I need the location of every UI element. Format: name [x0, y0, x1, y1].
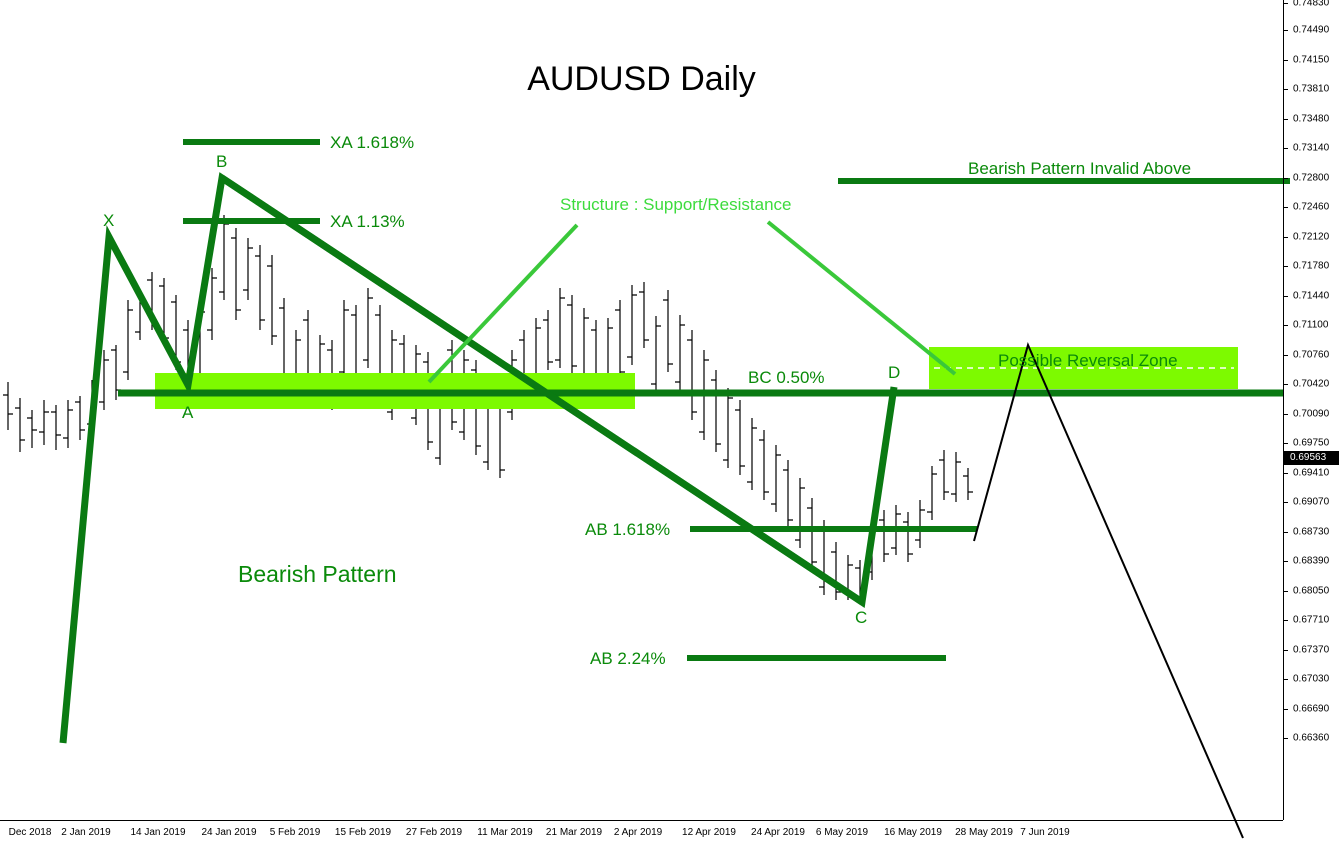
price-tick-label: 0.69410 — [1293, 468, 1329, 479]
pattern-point-label-d: D — [888, 363, 900, 383]
price-tick-mark — [1283, 207, 1288, 208]
date-axis-line — [0, 820, 1283, 821]
pattern-point-label-a: A — [182, 403, 193, 423]
date-tick-label: 21 Mar 2019 — [546, 827, 602, 838]
price-tick-label: 0.73140 — [1293, 143, 1329, 154]
price-tick-label: 0.67710 — [1293, 615, 1329, 626]
price-tick-label: 0.66690 — [1293, 704, 1329, 715]
price-tick-mark — [1283, 473, 1288, 474]
price-tick-mark — [1283, 60, 1288, 61]
date-tick-label: 12 Apr 2019 — [682, 827, 736, 838]
label-structure-support-resistance: Structure : Support/Resistance — [560, 195, 792, 215]
date-tick-label: 15 Feb 2019 — [335, 827, 391, 838]
price-tick-label: 0.74830 — [1293, 0, 1329, 9]
date-tick-label: 16 May 2019 — [884, 827, 942, 838]
price-tick-label: 0.68730 — [1293, 527, 1329, 538]
pattern-point-label-c: C — [855, 608, 867, 628]
price-tick-mark — [1283, 709, 1288, 710]
price-tick-mark — [1283, 591, 1288, 592]
price-tick-mark — [1283, 679, 1288, 680]
price-tick-mark — [1283, 119, 1288, 120]
pattern-point-label-b: B — [216, 152, 227, 172]
price-tick-label: 0.72120 — [1293, 232, 1329, 243]
label-bearish-pattern-invalid-above: Bearish Pattern Invalid Above — [968, 159, 1191, 179]
price-tick-mark — [1283, 325, 1288, 326]
price-axis-line — [1283, 0, 1284, 820]
price-tick-label: 0.68050 — [1293, 586, 1329, 597]
label-ab-224: AB 2.24% — [590, 649, 666, 669]
price-tick-label: 0.70420 — [1293, 379, 1329, 390]
date-tick-label: Dec 2018 — [9, 827, 52, 838]
current-price-badge: 0.69563 — [1284, 451, 1339, 465]
price-tick-label: 0.70090 — [1293, 409, 1329, 420]
label-bearish-pattern: Bearish Pattern — [238, 561, 397, 588]
price-tick-label: 0.71780 — [1293, 261, 1329, 272]
price-tick-label: 0.70760 — [1293, 350, 1329, 361]
price-tick-mark — [1283, 30, 1288, 31]
date-tick-label: 11 Mar 2019 — [477, 827, 532, 838]
price-tick-label: 0.71100 — [1293, 320, 1328, 331]
price-tick-mark — [1283, 561, 1288, 562]
price-tick-mark — [1283, 532, 1288, 533]
price-tick-mark — [1283, 89, 1288, 90]
label-possible-reversal-zone: Possible Reversal Zone — [998, 351, 1178, 371]
price-tick-label: 0.67370 — [1293, 645, 1329, 656]
price-tick-label: 0.72460 — [1293, 202, 1329, 213]
date-tick-label: 7 Jun 2019 — [1020, 827, 1070, 838]
price-tick-label: 0.74150 — [1293, 55, 1329, 66]
price-tick-label: 0.69070 — [1293, 497, 1329, 508]
date-tick-label: 2 Jan 2019 — [61, 827, 111, 838]
price-tick-label: 0.69750 — [1293, 438, 1329, 449]
price-tick-label: 0.73810 — [1293, 84, 1329, 95]
price-tick-mark — [1283, 3, 1288, 4]
price-tick-mark — [1283, 502, 1288, 503]
date-tick-label: 24 Jan 2019 — [201, 827, 256, 838]
price-tick-mark — [1283, 384, 1288, 385]
structure-pointer-left — [429, 225, 577, 382]
label-xa-1618: XA 1.618% — [330, 133, 414, 153]
chart-root: AUDUSD Daily XA 1.618% XA 1.13% BC 0.50%… — [0, 0, 1341, 847]
price-tick-label: 0.67030 — [1293, 674, 1329, 685]
price-tick-mark — [1283, 414, 1288, 415]
price-tick-mark — [1283, 148, 1288, 149]
pattern-point-label-x: X — [103, 211, 114, 231]
price-tick-mark — [1283, 738, 1288, 739]
price-tick-mark — [1283, 266, 1288, 267]
date-tick-label: 27 Feb 2019 — [406, 827, 462, 838]
price-tick-mark — [1283, 355, 1288, 356]
structure-pointer-right — [768, 222, 955, 374]
date-tick-label: 28 May 2019 — [955, 827, 1013, 838]
price-tick-mark — [1283, 237, 1288, 238]
price-tick-label: 0.66360 — [1293, 733, 1329, 744]
label-xa-113: XA 1.13% — [330, 212, 405, 232]
price-tick-mark — [1283, 296, 1288, 297]
price-tick-label: 0.72800 — [1293, 173, 1329, 184]
date-tick-label: 2 Apr 2019 — [614, 827, 662, 838]
price-tick-label: 0.73480 — [1293, 114, 1329, 125]
chart-title: AUDUSD Daily — [0, 60, 1283, 99]
label-ab-1618: AB 1.618% — [585, 520, 670, 540]
price-tick-mark — [1283, 620, 1288, 621]
price-tick-mark — [1283, 443, 1288, 444]
date-tick-label: 14 Jan 2019 — [130, 827, 185, 838]
date-tick-label: 6 May 2019 — [816, 827, 868, 838]
plot-area: AUDUSD Daily XA 1.618% XA 1.13% BC 0.50%… — [0, 0, 1283, 820]
date-tick-label: 24 Apr 2019 — [751, 827, 805, 838]
label-bc-050: BC 0.50% — [748, 368, 825, 388]
date-axis[interactable]: Dec 20182 Jan 201914 Jan 201924 Jan 2019… — [0, 820, 1283, 847]
price-tick-label: 0.71440 — [1293, 291, 1329, 302]
price-axis[interactable]: 0.748300.744900.741500.738100.734800.731… — [1283, 0, 1341, 820]
structure-pointers-layer — [0, 0, 1341, 847]
date-tick-label: 5 Feb 2019 — [270, 827, 321, 838]
price-tick-label: 0.68390 — [1293, 556, 1329, 567]
price-tick-mark — [1283, 178, 1288, 179]
price-tick-label: 0.74490 — [1293, 25, 1329, 36]
price-tick-mark — [1283, 650, 1288, 651]
